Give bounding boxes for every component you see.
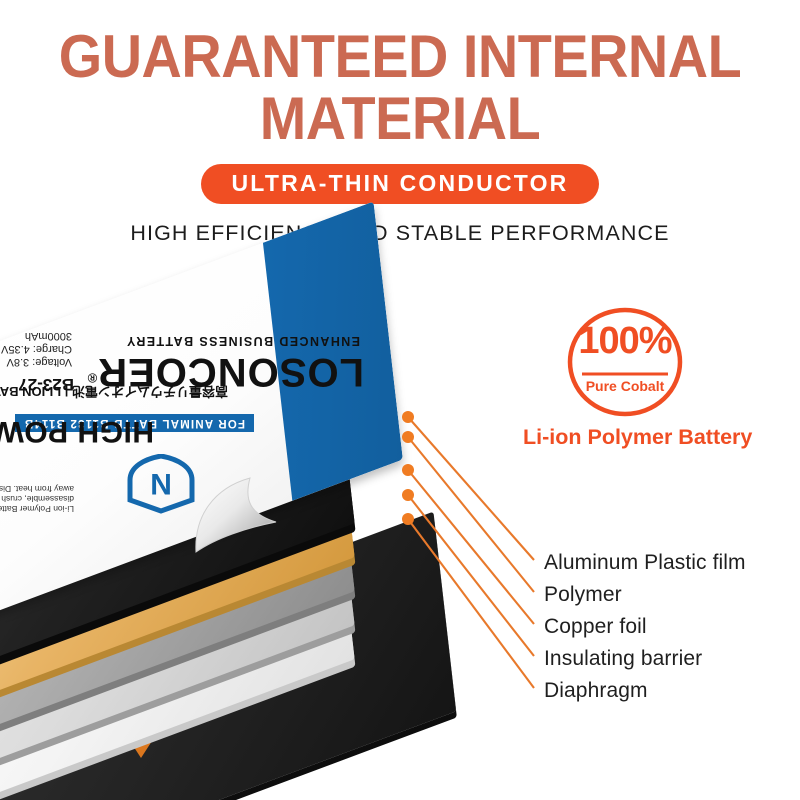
callout-dot-1: [402, 411, 414, 423]
infographic-page: GUARANTEED INTERNAL MATERIAL ULTRA-THIN …: [0, 0, 800, 800]
callout-label-insulating-barrier: Insulating barrier: [544, 647, 702, 671]
label-brand: LOSONCOER®: [87, 349, 364, 394]
callout-dot-2: [402, 431, 414, 443]
label-specs: Voltage: 3.8V Charge: 4.35V 3000mAh: [1, 329, 72, 368]
label-brand-subtitle: ENHANCED BUSINESS BATTERY: [126, 334, 360, 348]
label-high-power: HIGH POWER: [0, 414, 154, 448]
svg-text:N: N: [150, 467, 172, 500]
callout-label-copper-foil: Copper foil: [544, 615, 647, 639]
pure-cobalt-seal: 100% Pure Cobalt: [566, 306, 684, 418]
callout-dot-4: [402, 489, 414, 501]
product-type-label: Li-ion Polymer Battery: [523, 425, 752, 450]
callout-label-aluminum-plastic-film: Aluminum Plastic film: [544, 551, 746, 575]
peeled-film-corner: [188, 470, 308, 560]
battery-illustration: CE Li-ion Polymer Battery. Do not disass…: [0, 0, 800, 800]
certification-badge-icon: N: [126, 454, 196, 514]
callout-label-diaphragm: Diaphragm: [544, 679, 648, 703]
seal-caption: Pure Cobalt: [566, 378, 684, 394]
seal-percent: 100%: [566, 320, 684, 363]
callout-label-polymer: Polymer: [544, 583, 622, 607]
label-fineprint: Li-ion Polymer Battery. Do not disassemb…: [0, 484, 74, 514]
callout-dot-3: [402, 464, 414, 476]
